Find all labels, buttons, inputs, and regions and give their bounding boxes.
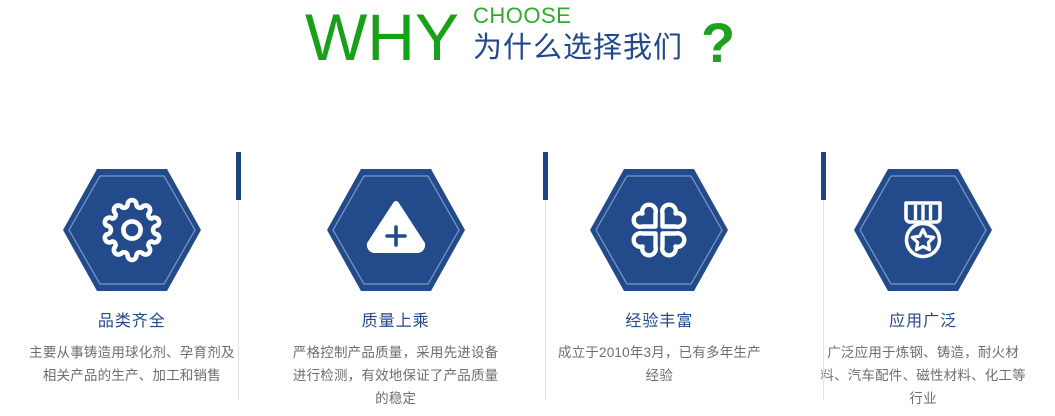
divider-3-line <box>823 200 824 400</box>
feature-card-3[interactable]: 经验丰富 成立于2010年3月，已有多年生产经验 <box>528 150 792 416</box>
hexagon-badge-3 <box>589 168 729 292</box>
divider-1-accent <box>236 152 241 200</box>
question-mark-icon: ? <box>701 0 735 72</box>
feature-card-1[interactable]: 品类齐全 主要从事铸造用球化剂、孕育剂及相关产品的生产、加工和销售 <box>0 150 264 416</box>
feature-card-title-4: 应用广泛 <box>889 312 957 332</box>
heading-inner: WHY CHOOSE 为什么选择我们 ? <box>305 0 735 72</box>
section-heading: WHY CHOOSE 为什么选择我们 ? <box>0 0 1055 100</box>
heading-chinese-title: 为什么选择我们 <box>473 30 683 66</box>
hexagon-badge-4 <box>853 168 993 292</box>
clover-icon <box>589 168 729 292</box>
feature-cards: 品类齐全 主要从事铸造用球化剂、孕育剂及相关产品的生产、加工和销售 质量上乘 严… <box>0 150 1055 416</box>
divider-2-accent <box>543 152 548 200</box>
feature-card-title-2: 质量上乘 <box>362 312 430 332</box>
heading-why: WHY <box>305 0 459 72</box>
feature-card-desc-4: 广泛应用于炼钢、铸造，耐火材料、汽车配件、磁性材料、化工等行业 <box>816 341 1031 410</box>
feature-card-title-3: 经验丰富 <box>625 312 693 332</box>
triangle-plus-icon <box>326 168 466 292</box>
hexagon-badge-1 <box>62 168 202 292</box>
feature-card-desc-2: 严格控制产品质量，采用先进设备进行检测，有效地保证了产品质量的稳定 <box>288 341 503 410</box>
divider-3-accent <box>821 152 826 200</box>
medal-icon <box>853 168 993 292</box>
feature-card-4[interactable]: 应用广泛 广泛应用于炼钢、铸造，耐火材料、汽车配件、磁性材料、化工等行业 <box>791 150 1055 416</box>
feature-card-desc-3: 成立于2010年3月，已有多年生产经验 <box>552 341 767 387</box>
divider-1-line <box>238 200 239 400</box>
feature-card-title-1: 品类齐全 <box>98 312 166 332</box>
hexagon-badge-2 <box>326 168 466 292</box>
feature-card-2[interactable]: 质量上乘 严格控制产品质量，采用先进设备进行检测，有效地保证了产品质量的稳定 <box>264 150 528 416</box>
gear-icon <box>62 168 202 292</box>
heading-middle-block: CHOOSE 为什么选择我们 <box>473 0 683 66</box>
heading-choose: CHOOSE <box>473 4 683 28</box>
divider-2-line <box>545 200 546 400</box>
feature-card-desc-1: 主要从事铸造用球化剂、孕育剂及相关产品的生产、加工和销售 <box>24 341 239 387</box>
